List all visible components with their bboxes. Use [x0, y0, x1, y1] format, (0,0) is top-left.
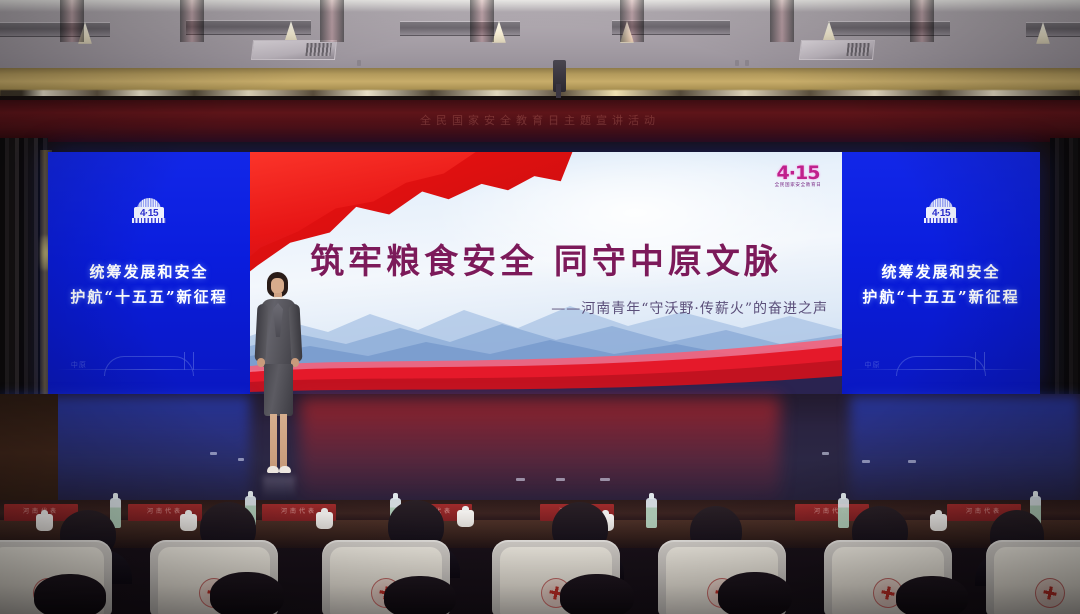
logo-number: 4·15 [770, 164, 826, 182]
ceiling-fixture-nub [735, 60, 739, 66]
presenter-floor-reflection [263, 476, 295, 498]
valance-fold [620, 0, 644, 42]
national-security-emblem-icon: 4·15 [924, 198, 958, 224]
deco-arch-shape [104, 356, 194, 376]
ceiling-speaker [553, 60, 566, 92]
deco-tower-shape [184, 352, 194, 370]
presenter-left-shoe [267, 466, 279, 473]
chair-emblem-icon [1035, 578, 1065, 608]
valance-fold [770, 0, 794, 42]
audience-head-front [384, 576, 456, 614]
ceiling-fixture-nub [745, 60, 749, 66]
presenter-face [271, 278, 284, 294]
side-panel-decoration-left: 中原 [56, 344, 242, 378]
logo-caption: 全民国家安全教育日 [770, 182, 826, 188]
side-panel-slogan-right: 统筹发展和安全 护航“十五五”新征程 [842, 260, 1040, 310]
national-security-day-logo: 4·15 全民国家安全教育日 [770, 164, 826, 190]
slogan-line-2: 护航“十五五”新征程 [48, 285, 250, 310]
valance-banner-text: 全民国家安全教育日主题宣讲活动 [0, 112, 1080, 128]
tea-cup [457, 510, 474, 527]
presenter-right-arm [288, 304, 302, 362]
floor-reflection-red [300, 398, 780, 502]
led-main-title: 筑牢粮食安全 同守中原文脉 [250, 234, 842, 283]
deco-caption: 中原 [865, 360, 881, 370]
valance-fold [320, 0, 344, 42]
floor-reflection-blue-right [850, 396, 1080, 508]
valance-fold [60, 0, 84, 42]
tea-cup [180, 514, 197, 531]
emblem-base [132, 218, 166, 223]
deco-tower-shape [975, 352, 985, 370]
valance-fold [180, 0, 204, 42]
led-side-panel-right: 4·15 统筹发展和安全 护航“十五五”新征程 中原 [842, 152, 1040, 394]
deco-caption: 中原 [71, 360, 87, 370]
valance-fold [470, 0, 494, 42]
presenter-right-shoe [279, 466, 291, 473]
led-video-wall: 4·15 统筹发展和安全 护航“十五五”新征程 中原 [48, 152, 1040, 394]
audience-head-front [718, 572, 792, 614]
side-panel-decoration-right: 中原 [850, 344, 1032, 378]
presenter-host [249, 272, 307, 484]
chair-inner [994, 547, 1080, 614]
ceiling-vent [1026, 22, 1080, 37]
led-main-content: 筑牢粮食安全 同守中原文脉 ——河南青年“守沃野·传薪火”的奋进之声 4·15 … [250, 152, 842, 394]
audience-head-front [560, 574, 634, 614]
tea-cup [316, 512, 333, 529]
audience-chair [986, 540, 1080, 614]
led-side-panel-left: 4·15 统筹发展和安全 护航“十五五”新征程 中原 [48, 152, 250, 394]
ceiling-air-diffuser [799, 40, 875, 60]
audience-head-front [210, 572, 284, 614]
water-bottle [646, 498, 657, 528]
valance-fold [910, 0, 934, 42]
tea-cup [930, 514, 947, 531]
ceiling-vent [0, 22, 110, 37]
red-ribbon-bottom-graphic [250, 326, 842, 394]
presenter-left-leg [270, 414, 277, 468]
presenter-right-leg [280, 414, 287, 468]
emblem-base [924, 218, 958, 223]
auditorium-scene: 全民国家安全教育日主题宣讲活动 4·15 统筹发展和安全 护航“十五五”新征程 … [0, 0, 1080, 614]
audience-head-front [34, 574, 106, 614]
presenter-skirt [264, 364, 293, 416]
ceiling-air-diffuser [251, 40, 337, 60]
slogan-line-1: 统筹发展和安全 [48, 260, 250, 285]
ribbon-svg [250, 326, 842, 394]
stage-side-wood-strip [0, 394, 58, 512]
audience-head-front [896, 576, 968, 614]
slogan-line-2: 护航“十五五”新征程 [842, 285, 1040, 310]
deco-arch-shape [896, 356, 986, 376]
tea-cup [36, 514, 53, 531]
national-security-emblem-icon: 4·15 [132, 198, 166, 224]
ceiling-fixture-nub [357, 60, 361, 66]
led-subtitle: ——河南青年“守沃野·传薪火”的奋进之声 [250, 298, 842, 318]
stage-curtain-right [1050, 138, 1080, 438]
audience-area: 河南代表 河南代表 河南代表 河南代表 河南代表 河南代表 河南代表 [0, 500, 1080, 614]
side-panel-slogan-left: 统筹发展和安全 护航“十五五”新征程 [48, 260, 250, 310]
slogan-line-1: 统筹发展和安全 [842, 260, 1040, 285]
water-bottle [838, 498, 849, 528]
